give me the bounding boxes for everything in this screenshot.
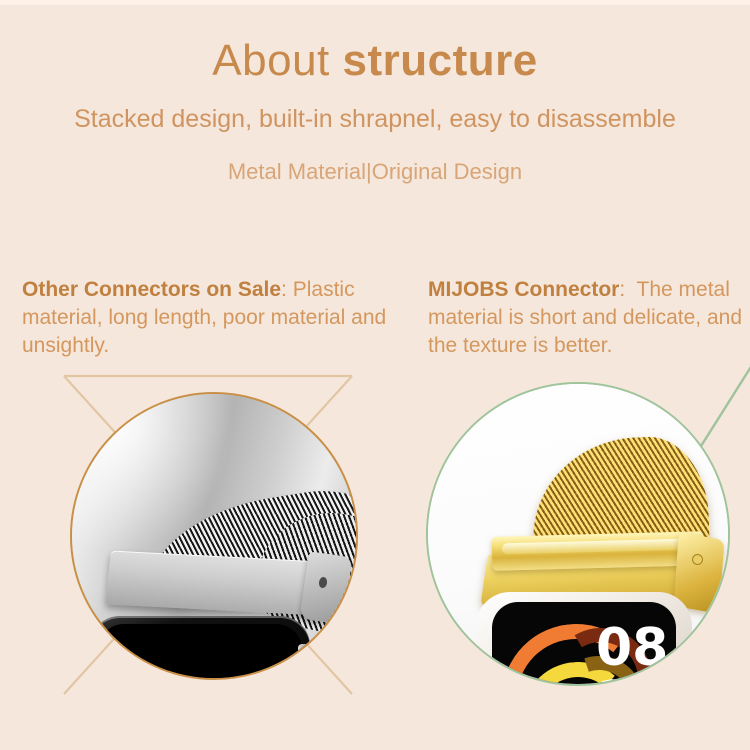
left-photo-content: 08 [72,394,356,678]
comparison-left-text: Other Connectors on Sale: Plastic materi… [22,276,394,360]
right-colon: : [619,278,625,301]
page-title-light: About [212,36,342,85]
page-tagline: Metal Material|Original Design [0,157,750,187]
right-photo-content: 08 16 [428,384,728,684]
page-subtitle: Stacked design, built-in shrapnel, easy … [0,102,750,136]
left-colon: : [281,278,287,301]
right-watch-hour: 08 [596,622,668,674]
right-product-photo: 08 16 [426,382,730,686]
left-heading: Other Connectors on Sale [22,278,281,301]
top-edge-strip [0,0,750,5]
right-heading: MIJOBS Connector [428,278,619,301]
product-infographic-page: About structure Stacked design, built-in… [0,0,750,750]
header-block: About structure Stacked design, built-in… [0,34,750,187]
left-watch-side-button [298,644,311,680]
gold-connector-pinhole [692,554,703,565]
right-watch-time: 08 16 [596,622,668,686]
comparison-right-text: MIJOBS Connector: The metal material is … [428,276,744,360]
comparison-right-figure: 08 16 [382,360,750,750]
comparison-left-figure: 08 [0,360,400,750]
plastic-connector [105,551,324,616]
right-description: MIJOBS Connector: The metal material is … [428,276,744,360]
left-description: Other Connectors on Sale: Plastic materi… [22,276,394,360]
left-product-photo: 08 [70,392,358,680]
page-title: About structure [0,34,750,88]
page-title-bold: structure [343,36,538,85]
left-watch-screen [98,624,302,680]
